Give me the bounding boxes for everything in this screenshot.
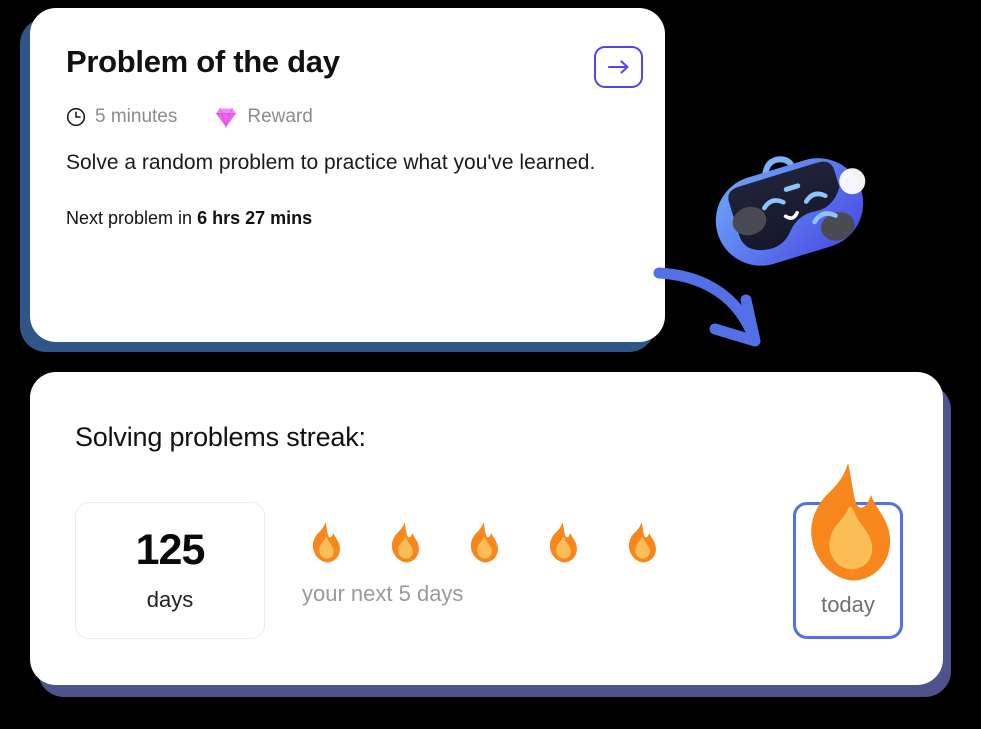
problem-card-content: Problem of the day 5 minutes [66,44,643,229]
flame-icon [466,521,501,565]
arrow-right-icon [607,59,631,75]
streak-days-box: 125 days [75,502,265,639]
go-to-problem-button[interactable] [594,46,643,88]
upcoming-flames [302,513,687,565]
streak-title: Solving problems streak: [75,422,366,453]
problem-card-header: Problem of the day [66,44,643,88]
problem-of-the-day-card[interactable]: Problem of the day 5 minutes [30,8,665,342]
streak-days-unit: days [147,587,193,613]
today-box[interactable]: today [793,502,903,639]
streak-days-count: 125 [136,529,205,572]
flame-icon [797,461,899,587]
meta-reward: Reward [214,106,312,128]
meta-duration: 5 minutes [66,106,177,128]
game-controller-mascot [700,145,880,290]
flame-icon [308,521,343,565]
gem-icon [214,107,238,128]
app-root: Problem of the day 5 minutes [0,0,981,729]
next-problem-timer: Next problem in 6 hrs 27 mins [66,208,643,229]
next-problem-prefix: Next problem in [66,208,197,228]
upcoming-days-label: your next 5 days [302,581,687,607]
flame-icon [545,521,580,565]
meta-reward-label: Reward [247,106,312,128]
meta-duration-label: 5 minutes [95,106,177,128]
streak-row: 125 days your next 5 days today [75,502,903,652]
problem-meta-row: 5 minutes Reward [66,106,643,128]
page-title: Problem of the day [66,44,340,80]
flame-icon [624,521,659,565]
solving-streak-card: Solving problems streak: 125 days your n… [30,372,943,685]
upcoming-days-group: your next 5 days [302,502,687,607]
next-problem-time: 6 hrs 27 mins [197,208,312,228]
clock-icon [66,107,86,127]
problem-description: Solve a random problem to practice what … [66,147,626,178]
today-label: today [821,592,875,618]
flame-icon [387,521,422,565]
